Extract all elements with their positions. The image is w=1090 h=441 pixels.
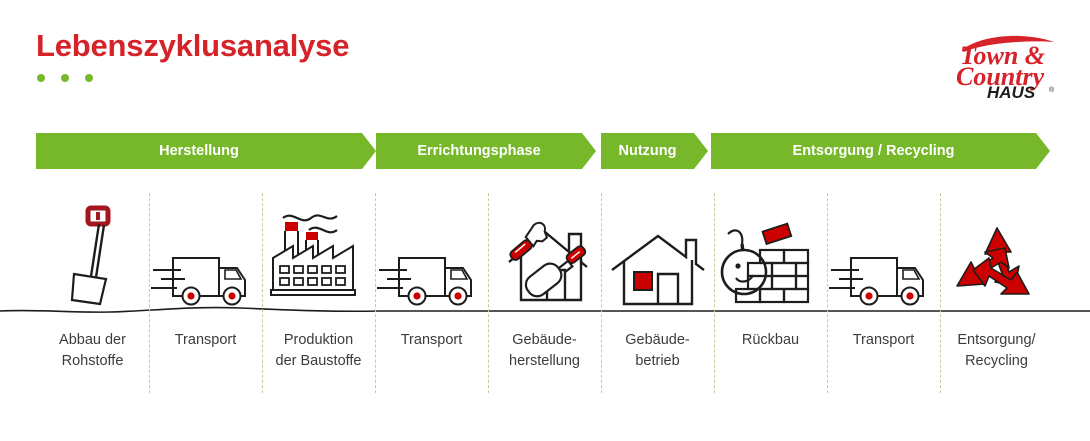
- phase-banner-2: Errichtungsphase: [376, 133, 596, 169]
- lifecycle-stage: Rückbau: [714, 185, 827, 400]
- house-build-icon: [488, 200, 601, 310]
- stage-label: Transport: [827, 330, 940, 351]
- logo-graphic: Town & Country HAUS ®: [954, 28, 1062, 100]
- stage-label: Rückbau: [714, 330, 827, 351]
- decoration-dot: [37, 74, 45, 82]
- lifecycle-stage: Gebäude- betrieb: [601, 185, 714, 400]
- decoration-dot: [85, 74, 93, 82]
- demolition-icon: [714, 200, 827, 310]
- house-icon: [601, 200, 714, 310]
- truck-icon: [149, 200, 262, 310]
- town-and-country-haus-logo: Town & Country HAUS ®: [954, 28, 1062, 100]
- decoration-dot: [61, 74, 69, 82]
- lifecycle-stage: Abbau der Rohstoffe: [36, 185, 149, 400]
- lifecycle-stage-area: Abbau der Rohstoffe Transport Produktion…: [0, 185, 1090, 400]
- stage-label: Entsorgung/ Recycling: [940, 330, 1053, 372]
- stage-label: Gebäude- herstellung: [488, 330, 601, 372]
- recycling-icon: [940, 200, 1053, 310]
- title-decoration-dots: [37, 74, 93, 82]
- lifecycle-stage: Transport: [149, 185, 262, 400]
- phase-banner-1: Herstellung: [36, 133, 376, 169]
- truck-icon: [827, 200, 940, 310]
- lifecycle-stage: Gebäude- herstellung: [488, 185, 601, 400]
- lifecycle-stage: Transport: [375, 185, 488, 400]
- phase-banner-row: HerstellungErrichtungsphaseNutzungEntsor…: [0, 133, 1090, 169]
- stage-label: Abbau der Rohstoffe: [36, 330, 149, 372]
- lifecycle-stage: Transport: [827, 185, 940, 400]
- shovel-icon: [36, 200, 149, 310]
- phase-banner-label: Herstellung: [159, 143, 239, 159]
- logo-trademark: ®: [1049, 86, 1055, 94]
- page-title: Lebenszyklusanalyse: [36, 28, 349, 64]
- stage-label: Gebäude- betrieb: [601, 330, 714, 372]
- truck-icon: [375, 200, 488, 310]
- phase-banner-4: Entsorgung / Recycling: [711, 133, 1050, 169]
- phase-banner-label: Errichtungsphase: [417, 143, 540, 159]
- lifecycle-stage: Produktion der Baustoffe: [262, 185, 375, 400]
- lifecycle-stage: Entsorgung/ Recycling: [940, 185, 1053, 400]
- phase-banner-3: Nutzung: [601, 133, 708, 169]
- stage-label: Produktion der Baustoffe: [262, 330, 375, 372]
- phase-banner-label: Entsorgung / Recycling: [793, 143, 955, 159]
- logo-line3: HAUS: [987, 83, 1036, 100]
- stage-label: Transport: [375, 330, 488, 351]
- factory-icon: [262, 200, 375, 310]
- phase-banner-label: Nutzung: [619, 143, 677, 159]
- stage-label: Transport: [149, 330, 262, 351]
